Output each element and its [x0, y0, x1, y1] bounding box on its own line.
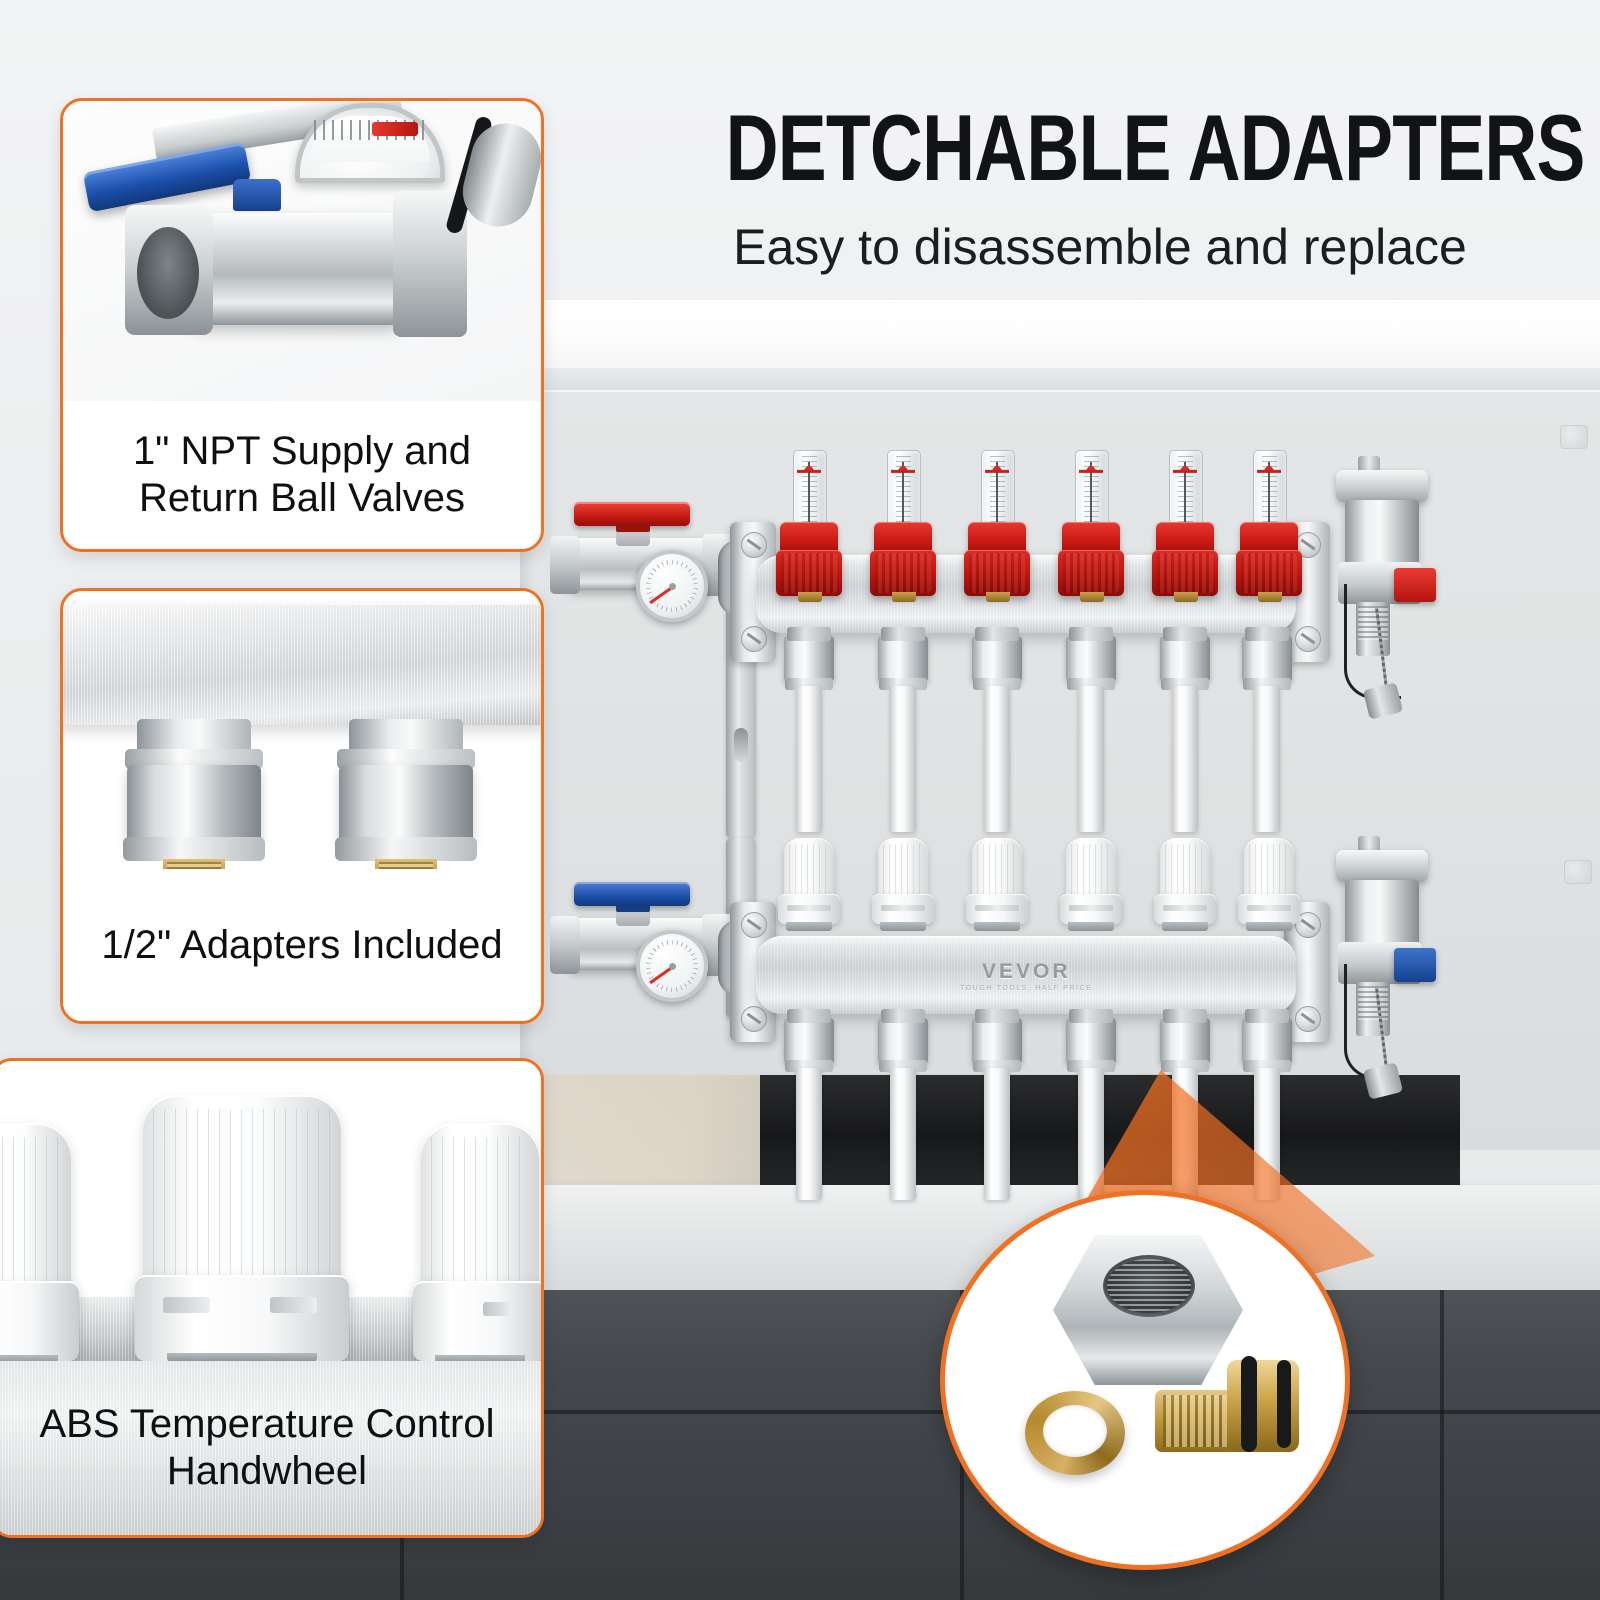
collar-notch: [163, 1297, 210, 1312]
union-ring: [455, 116, 544, 234]
handwheel-dome: [1244, 838, 1294, 900]
flow-meter-brass-base: [892, 592, 916, 602]
flow-meter-skirt: [1152, 550, 1218, 596]
return-temperature-gauge-icon: [636, 930, 708, 1002]
compression-nut: [878, 636, 928, 682]
supply-temperature-gauge-icon: [636, 550, 708, 622]
air-vent-body: [1345, 500, 1419, 566]
handwheel-base: [1246, 922, 1292, 931]
handwheel-dome: [1160, 838, 1210, 900]
handwheel-dome: [143, 1095, 341, 1287]
supply-valve-lever-handle: [574, 502, 690, 526]
flow-meter-skirt: [1058, 550, 1124, 596]
product-feature-image: VEVOR TOUGH TOOLS, HALF PRICE: [0, 0, 1600, 1600]
handwheel-dome: [421, 1123, 539, 1293]
handwheel-base: [880, 922, 926, 931]
flow-meter-sight-glass: [1169, 450, 1203, 530]
collar-notch: [483, 1302, 512, 1316]
panel1-caption: 1" NPT Supply and Return Ball Valves: [63, 401, 541, 549]
drain-cap: [1363, 1062, 1403, 1099]
adapter-hex-body: [127, 765, 261, 843]
countertop-edge: [500, 368, 1600, 390]
bracket-screw-icon: [741, 912, 767, 938]
flow-meter-brass-base: [1174, 592, 1198, 602]
adapter-detail-inset: [940, 1190, 1350, 1570]
manifold-assembly: VEVOR TOUGH TOOLS, HALF PRICE: [540, 440, 1600, 1200]
handwheel-dome: [972, 838, 1022, 900]
flow-meter-sight-glass: [793, 450, 827, 530]
outlet-compression-nut: [878, 1018, 928, 1064]
handwheel-collar: [1238, 894, 1300, 924]
connecting-pipe: [984, 686, 1010, 832]
valve-female-nut: [550, 536, 580, 594]
oring-seal: [1277, 1360, 1291, 1448]
brand-name: VEVOR: [982, 960, 1071, 983]
air-vent-head: [1336, 470, 1428, 502]
panel3-caption: ABS Temperature Control Handwheel: [0, 1361, 541, 1535]
panel3-photo: [0, 1061, 541, 1361]
flow-meter-sight-glass: [1075, 450, 1109, 530]
gauge-hub: [669, 963, 676, 970]
connecting-pipe: [1078, 686, 1104, 832]
page-subtitle: Easy to disassemble and replace: [600, 218, 1600, 276]
return-valve-lever-handle: [574, 882, 690, 906]
flow-meter-sight-glass: [887, 450, 921, 530]
bracket-screw-icon: [1295, 1006, 1321, 1032]
handwheel-collar: [872, 894, 934, 924]
countertop: [500, 300, 1600, 370]
rail-slot: [734, 728, 748, 762]
retaining-wire: [1344, 964, 1401, 1079]
handwheel-collar: [135, 1275, 349, 1361]
brass-split-ring: [1025, 1391, 1125, 1475]
nut-threaded-bore: [1103, 1255, 1195, 1317]
handwheel-base: [786, 922, 832, 931]
connecting-pipe: [890, 686, 916, 832]
gauge-red-band: [372, 122, 418, 136]
flow-meter-skirt: [870, 550, 936, 596]
brass-pex-insert: [1155, 1350, 1305, 1480]
compression-nut: [1160, 636, 1210, 682]
flow-meter-skirt: [964, 550, 1030, 596]
compression-nut: [1066, 636, 1116, 682]
vevor-brand-mark: VEVOR TOUGH TOOLS, HALF PRICE: [960, 960, 1093, 992]
handwheel-collar: [413, 1281, 544, 1361]
valve-female-nut: [550, 916, 580, 974]
handwheel-collar: [1154, 894, 1216, 924]
compression-nut: [784, 636, 834, 682]
outlet-compression-nut: [1242, 1018, 1292, 1064]
oring-seal: [1241, 1356, 1257, 1452]
air-vent-body: [1345, 880, 1419, 946]
panel1-photo: [63, 101, 541, 401]
bracket-screw-icon: [741, 532, 767, 558]
handwheel-base: [974, 922, 1020, 931]
flow-meter-sight-glass: [981, 450, 1015, 530]
adapter-ring: [123, 837, 265, 861]
handwheel-collar: [1060, 894, 1122, 924]
abs-handwheel-center: [143, 1095, 341, 1361]
outlet-pipe: [796, 1068, 822, 1200]
flow-meter-sight-glass: [1253, 450, 1287, 530]
handwheel-dome: [784, 838, 834, 900]
adapter-ring: [335, 837, 477, 861]
flow-meter-brass-base: [798, 592, 822, 602]
feature-panel-ball-valves: 1" NPT Supply and Return Ball Valves: [60, 98, 544, 552]
flow-meter-brass-base: [1080, 592, 1104, 602]
bracket-screw-icon: [1295, 626, 1321, 652]
panel2-caption: 1/2" Adapters Included: [63, 869, 541, 1021]
handwheel-collar: [0, 1281, 79, 1361]
connecting-pipe: [1254, 686, 1280, 832]
brand-tagline: TOUGH TOOLS, HALF PRICE: [960, 985, 1093, 992]
handwheel-collar: [966, 894, 1028, 924]
handwheel-dome: [1066, 838, 1116, 900]
handwheel-dome: [878, 838, 928, 900]
outlet-compression-nut: [784, 1018, 834, 1064]
panel2-photo: [63, 591, 541, 869]
abs-handwheel-side: [421, 1123, 539, 1361]
collar-notch: [270, 1297, 317, 1312]
outlet-compression-nut: [1066, 1018, 1116, 1064]
bracket-screw-icon: [741, 1006, 767, 1032]
retaining-wire: [1344, 584, 1401, 699]
outlet-compression-nut: [972, 1018, 1022, 1064]
panel3-caption-text: ABS Temperature Control Handwheel: [7, 1401, 527, 1495]
gauge-hub: [669, 583, 676, 590]
handwheel-dome: [0, 1123, 71, 1293]
handwheel-base: [1162, 922, 1208, 931]
outlet-pipe: [984, 1068, 1010, 1200]
connecting-pipe: [1172, 686, 1198, 832]
page-title: DETCHABLE ADAPTERS: [726, 95, 1475, 205]
brushed-manifold-bar: [60, 605, 544, 725]
connecting-pipe: [796, 686, 822, 832]
feature-panel-adapters: 1/2" Adapters Included: [60, 588, 544, 1024]
ball-valve-body: [191, 213, 401, 325]
npt-female-thread-port: [125, 205, 213, 335]
air-vent-head: [1336, 850, 1428, 882]
feature-panel-handwheel: ABS Temperature Control Handwheel: [0, 1058, 544, 1538]
compression-nut: [972, 636, 1022, 682]
handwheel-base: [1068, 922, 1114, 931]
adapter-hex-body: [339, 765, 473, 843]
handwheel-collar: [778, 894, 840, 924]
tile-grout-line: [1440, 1290, 1444, 1600]
abs-handwheel-side: [0, 1123, 71, 1361]
bracket-screw-icon: [741, 626, 767, 652]
outlet-compression-nut: [1160, 1018, 1210, 1064]
drain-cap: [1363, 682, 1403, 719]
flow-meter-brass-base: [1258, 592, 1282, 602]
flow-meter-skirt: [1236, 550, 1302, 596]
outlet-pipe: [890, 1068, 916, 1200]
flow-meter-skirt: [776, 550, 842, 596]
compression-nut: [1242, 636, 1292, 682]
valve-knob: [233, 179, 281, 211]
flow-meter-brass-base: [986, 592, 1010, 602]
